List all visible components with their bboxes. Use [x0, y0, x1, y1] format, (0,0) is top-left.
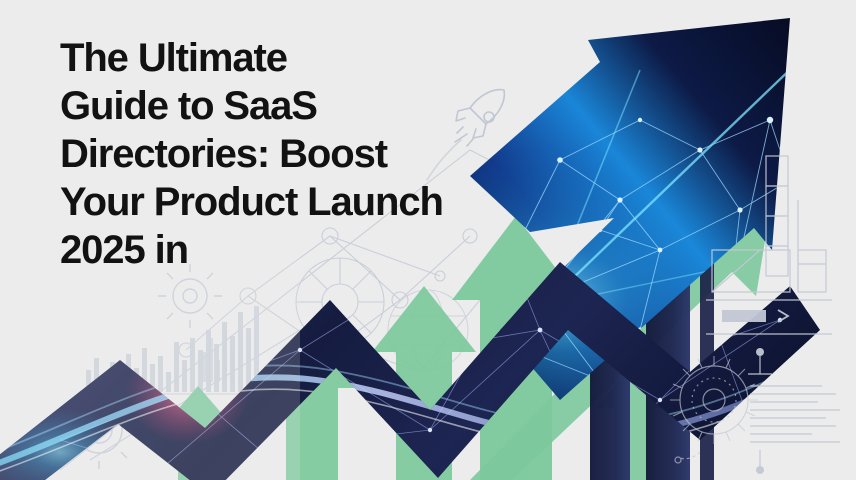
- hero-artwork: [0, 0, 856, 480]
- hero-banner: The Ultimate Guide to SaaS Directories: …: [0, 0, 856, 480]
